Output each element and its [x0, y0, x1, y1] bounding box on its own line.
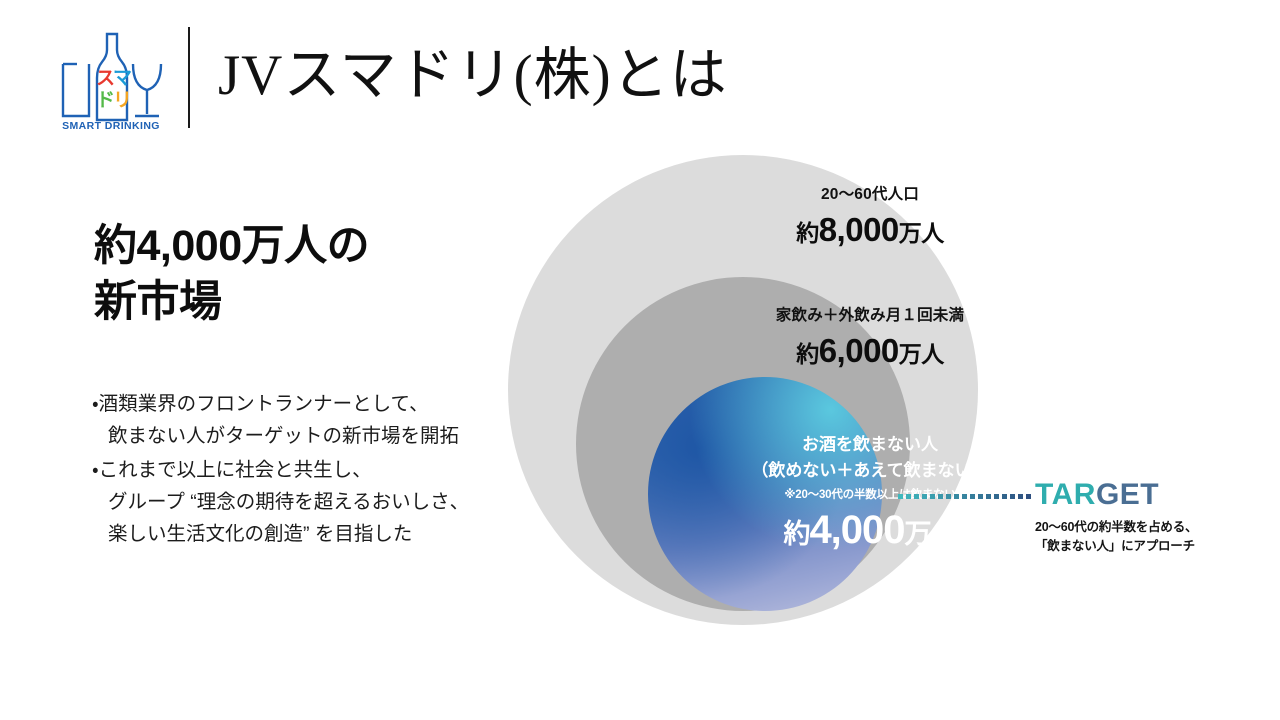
target-callout: TARGET 20〜60代の約半数を占める、 「飲まない人」にアプローチ: [1035, 478, 1275, 556]
bullet-line: ・酒類業界のフロントランナーとして、: [92, 388, 522, 420]
slide-header: ス マ ド リ SMART DRINKING JVスマドリ(株)とは: [0, 0, 1280, 150]
bullet-line: ・これまで以上に社会と共生し、: [92, 454, 522, 486]
bullet-line: グループ “理念の期待を超えるおいしさ、: [92, 486, 522, 518]
target-caption: 20〜60代の約半数を占める、 「飲まない人」にアプローチ: [1035, 518, 1275, 556]
outer-circle-label-group: 20〜60代人口 約8,000万人: [460, 182, 1280, 249]
bullet-list: ・酒類業界のフロントランナーとして、 飲まない人がターゲットの新市場を開拓 ・こ…: [92, 388, 522, 552]
left-content-column: 約4,000万人の 新市場 ・酒類業界のフロントランナーとして、 飲まない人がタ…: [0, 150, 520, 720]
slide-root: ス マ ド リ SMART DRINKING JVスマドリ(株)とは 約4,00…: [0, 0, 1280, 720]
inner-value-number: 4,000: [809, 508, 904, 552]
headline: 約4,000万人の 新市場: [94, 218, 494, 330]
connector-dot: [1002, 494, 1007, 499]
list-item: ・これまで以上に社会と共生し、 グループ “理念の期待を超えるおいしさ、 楽しい…: [92, 454, 522, 550]
logo-tagline: SMART DRINKING: [62, 120, 160, 132]
inner-circle-label: お酒を飲まない人: [460, 432, 1280, 458]
logo-char-ma: マ: [113, 67, 132, 89]
outer-value-prefix: 約: [796, 220, 819, 246]
target-label-part-2: GET: [1096, 478, 1159, 511]
connector-dot: [938, 494, 943, 499]
middle-circle-label-group: 家飲み＋外飲み月１回未満 約6,000万人: [460, 303, 1280, 370]
smart-drinking-logo-icon: ス マ ド リ SMART DRINKING: [55, 28, 167, 132]
header-divider: [188, 27, 190, 128]
outer-value-unit: 万人: [899, 220, 944, 246]
logo-char-ri: リ: [113, 89, 132, 111]
bullet-line: 楽しい生活文化の創造” を目指した: [92, 518, 522, 550]
dotted-connector-line: [898, 494, 1032, 502]
bullet-line: 飲まない人がターゲットの新市場を開拓: [92, 420, 522, 452]
connector-dot: [978, 494, 983, 499]
connector-dot: [914, 494, 919, 499]
connector-dot: [922, 494, 927, 499]
connector-dot: [994, 494, 999, 499]
middle-value-unit: 万人: [899, 341, 944, 367]
connector-dot: [970, 494, 975, 499]
inner-value-prefix: 約: [783, 519, 809, 549]
connector-dot: [1010, 494, 1015, 499]
connector-dot: [986, 494, 991, 499]
connector-dot: [962, 494, 967, 499]
headline-line-2: 新市場: [94, 274, 494, 330]
outer-circle-value: 約8,000万人: [460, 211, 1280, 249]
target-caption-line-1: 20〜60代の約半数を占める、: [1035, 518, 1275, 537]
headline-line-1: 約4,000万人の: [94, 218, 494, 274]
middle-value-number: 6,000: [819, 332, 899, 369]
connector-dot: [906, 494, 911, 499]
target-label-part-1: TAR: [1035, 478, 1096, 511]
middle-circle-label: 家飲み＋外飲み月１回未満: [460, 303, 1280, 325]
connector-dot: [930, 494, 935, 499]
connector-dot: [954, 494, 959, 499]
middle-circle-value: 約6,000万人: [460, 332, 1280, 370]
connector-dot: [1018, 494, 1023, 499]
target-caption-line-2: 「飲まない人」にアプローチ: [1035, 537, 1275, 556]
connector-dot: [946, 494, 951, 499]
outer-value-number: 8,000: [819, 211, 899, 248]
list-item: ・酒類業界のフロントランナーとして、 飲まない人がターゲットの新市場を開拓: [92, 388, 522, 452]
connector-dot: [898, 494, 903, 499]
nested-circles-diagram: 20〜60代人口 約8,000万人 家飲み＋外飲み月１回未満 約6,000万人 …: [460, 140, 1280, 660]
smart-drinking-logo: ス マ ド リ SMART DRINKING: [55, 28, 167, 132]
connector-dot: [1026, 494, 1031, 499]
outer-circle-label: 20〜60代人口: [460, 182, 1280, 204]
page-title: JVスマドリ(株)とは: [218, 38, 728, 114]
inner-value-unit: 万人: [905, 519, 957, 549]
target-label: TARGET: [1035, 478, 1275, 512]
middle-value-prefix: 約: [796, 341, 819, 367]
